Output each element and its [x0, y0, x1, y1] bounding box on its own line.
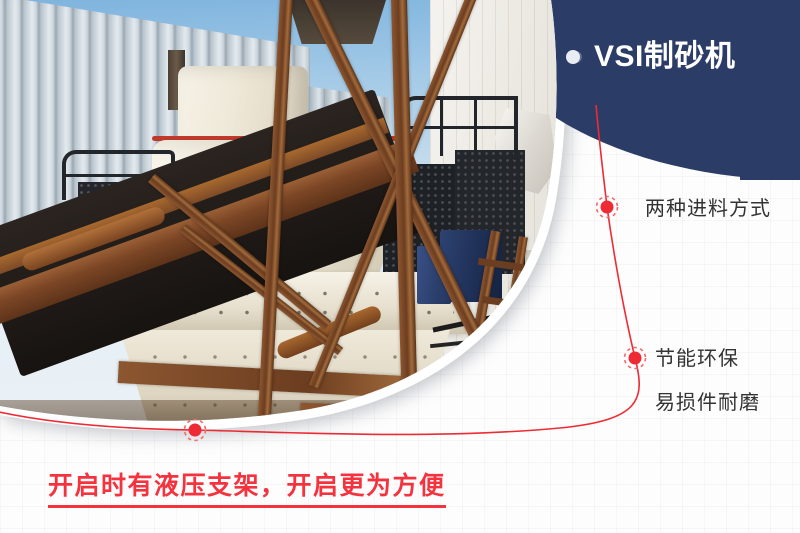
title-block: VSI制砂机: [566, 42, 735, 72]
feature-label-1: 两种进料方式: [645, 194, 771, 224]
feature-2-line-2: 易损件耐磨: [655, 388, 760, 418]
feature-1-line-1: 两种进料方式: [645, 194, 771, 224]
feature-label-2: 节能环保 易损件耐磨: [655, 344, 760, 418]
machine-photo: [0, 0, 620, 470]
bottom-caption: 开启时有液压支架，开启更为方便: [48, 466, 446, 508]
vegetation: [548, 318, 600, 376]
railing-post-2: [474, 98, 477, 156]
promo-banner: VSI制砂机: [0, 0, 800, 533]
steel-beam-horizontal-2: [300, 403, 600, 439]
railing-post-1: [440, 98, 443, 156]
feature-2-line-1: 节能环保: [655, 344, 760, 374]
building-shadow: [520, 250, 600, 450]
photo-content: [0, 0, 600, 452]
bullet-dot-icon: [566, 50, 580, 64]
flywheel-hub: [526, 330, 548, 352]
page-title: VSI制砂机: [594, 42, 735, 72]
flywheel: [508, 312, 566, 370]
